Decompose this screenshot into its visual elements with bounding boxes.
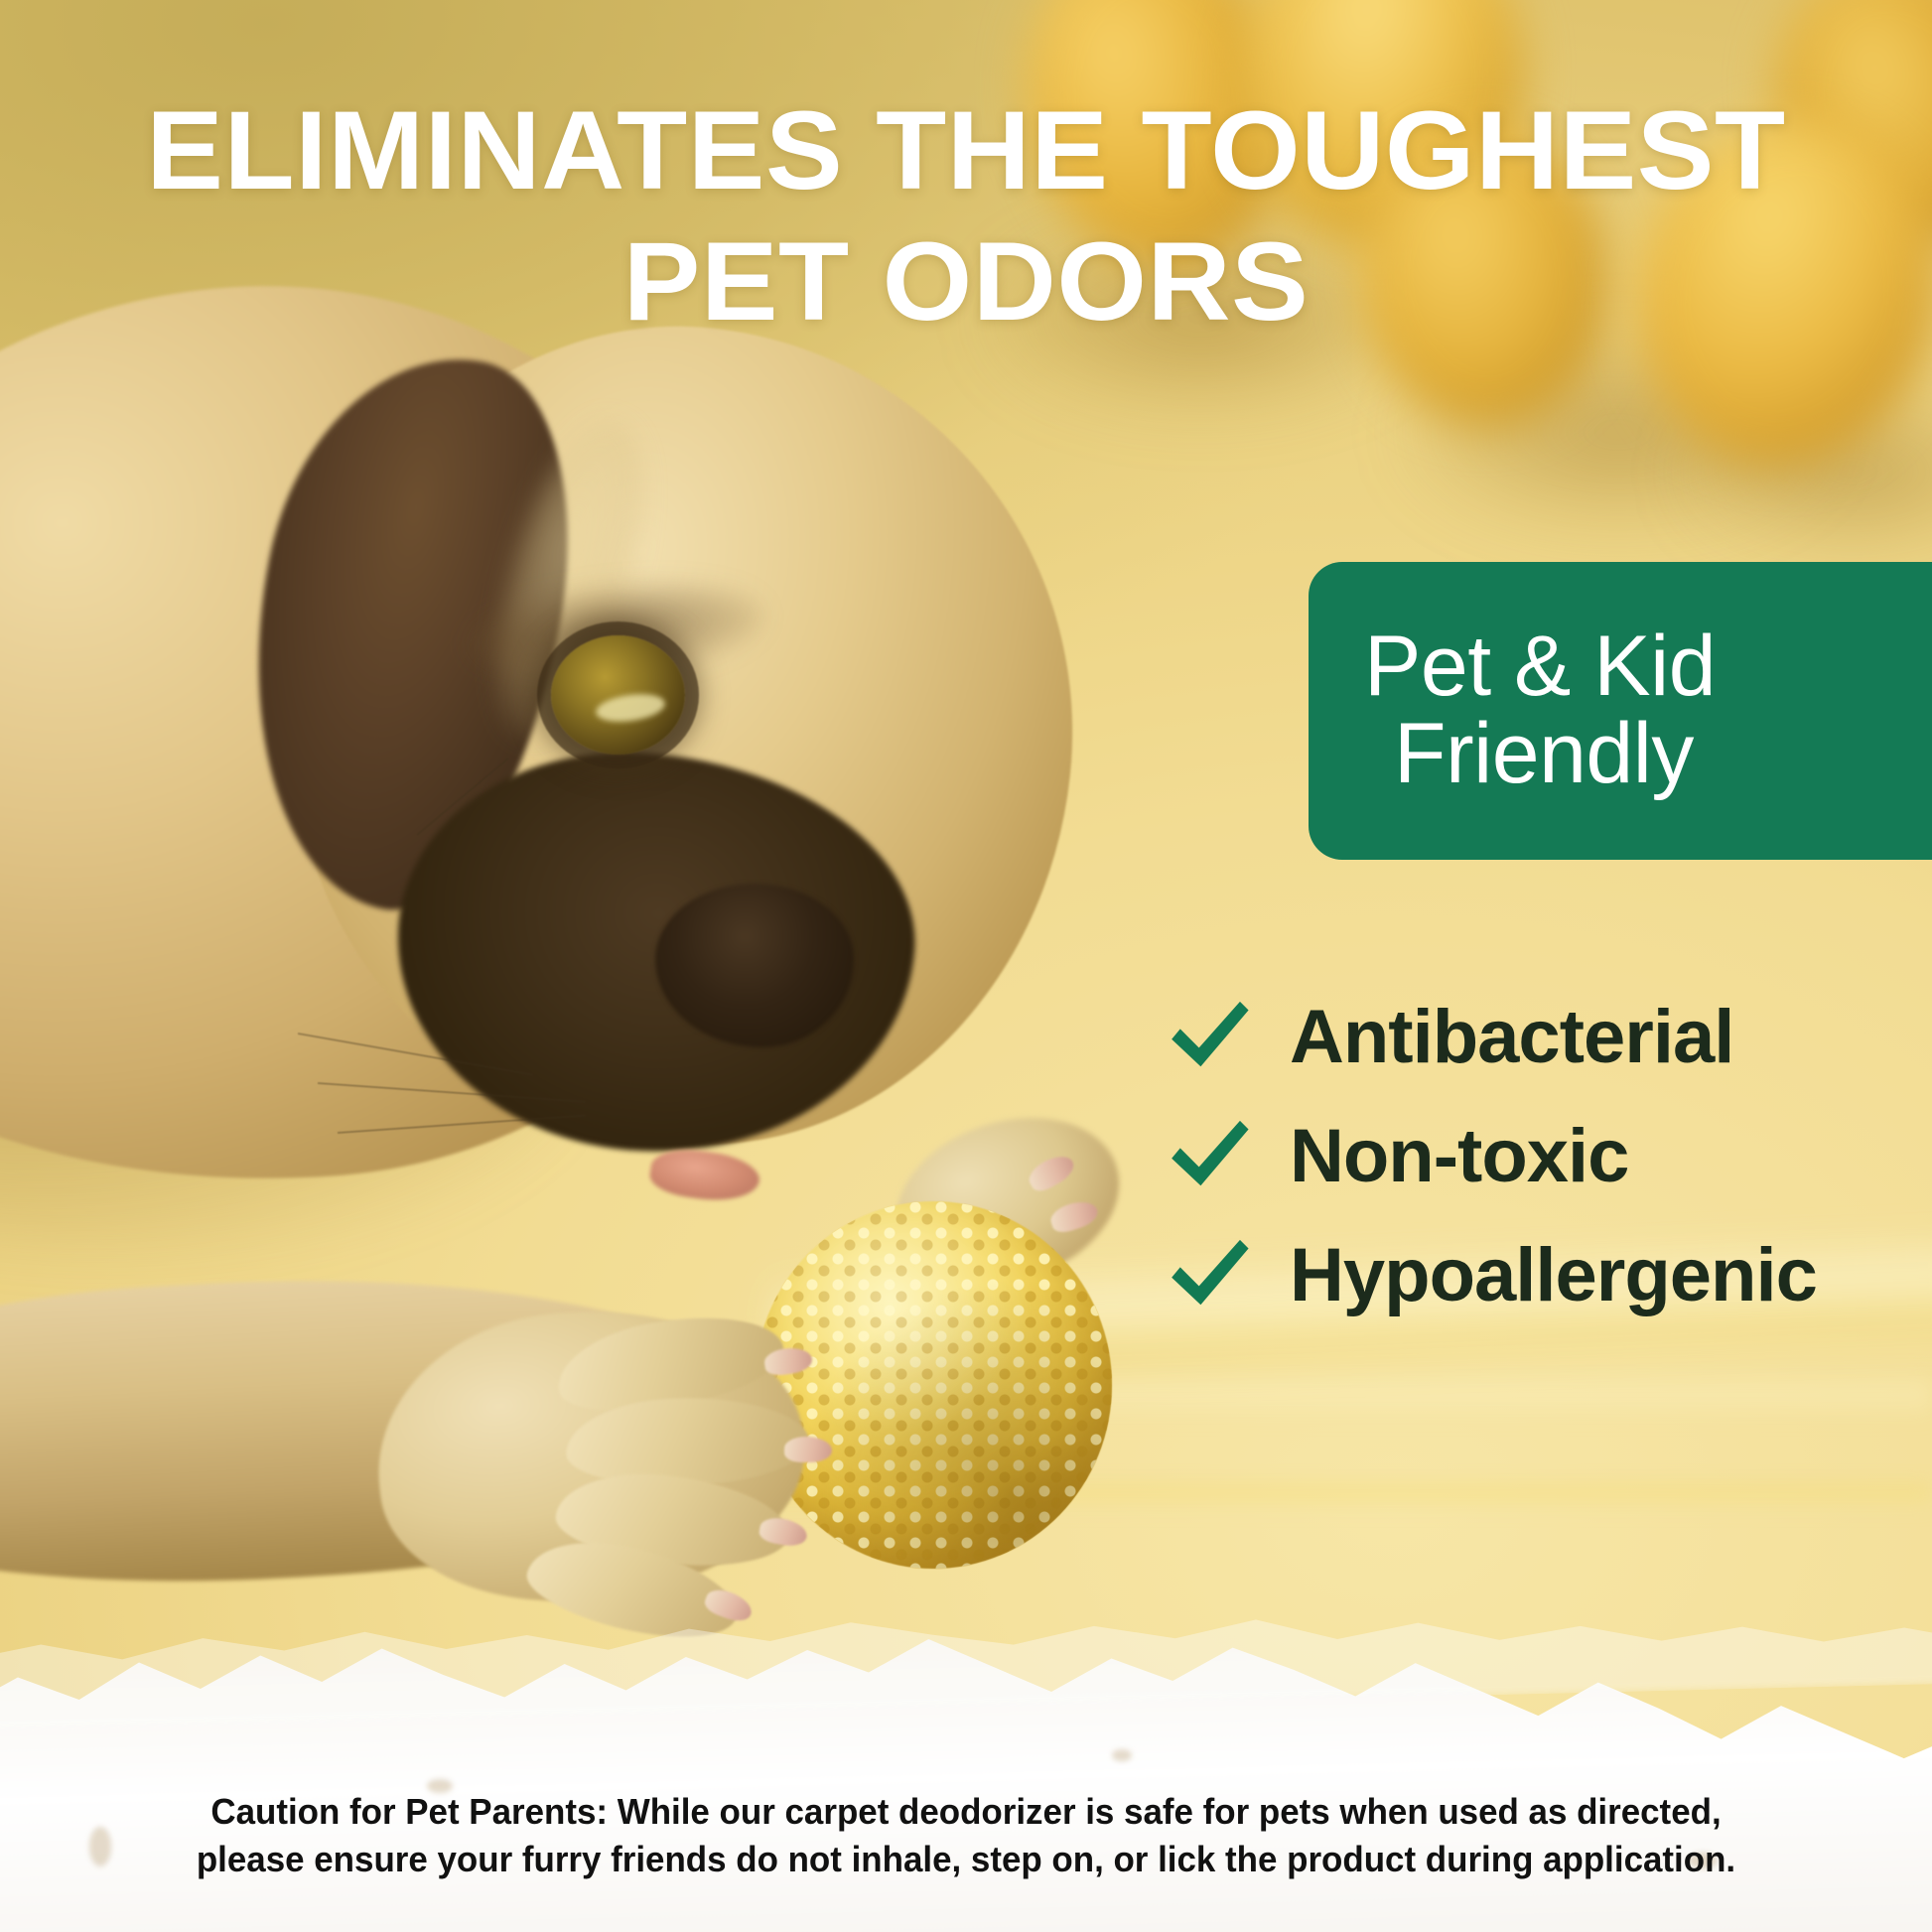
dog-eye <box>551 635 685 755</box>
check-icon <box>1167 995 1252 1080</box>
headline-line-2: PET ODORS <box>15 216 1917 347</box>
promo-banner: ELIMINATES THE TOUGHEST PET ODORS Pet & … <box>0 0 1932 1932</box>
list-item: Hypoallergenic <box>1167 1216 1932 1335</box>
pet-kid-friendly-badge: Pet & Kid Friendly <box>1309 562 1932 860</box>
feature-label: Antibacterial <box>1290 1000 1733 1075</box>
ball-shading <box>755 1201 1112 1569</box>
badge-line-1: Pet & Kid <box>1364 623 1924 711</box>
dog-nail <box>784 1437 832 1462</box>
caution-line-2: please ensure your furry friends do not … <box>73 1836 1859 1884</box>
check-icon <box>1167 1114 1252 1199</box>
headline-line-1: ELIMINATES THE TOUGHEST <box>146 88 1785 212</box>
feature-label: Hypoallergenic <box>1290 1238 1817 1313</box>
badge-line-2: Friendly <box>1364 711 1924 798</box>
caution-text: Caution for Pet Parents: While our carpe… <box>29 1788 1903 1884</box>
feature-list: Antibacterial Non-toxic Hypoallergenic <box>1167 978 1932 1335</box>
dog-tongue <box>647 1145 762 1207</box>
headline: ELIMINATES THE TOUGHEST PET ODORS <box>0 85 1932 347</box>
list-item: Non-toxic <box>1167 1097 1932 1216</box>
carpet-speck <box>1112 1749 1132 1761</box>
list-item: Antibacterial <box>1167 978 1932 1097</box>
check-icon <box>1167 1233 1252 1318</box>
feature-label: Non-toxic <box>1290 1119 1628 1194</box>
caution-line-1: Caution for Pet Parents: While our carpe… <box>73 1788 1859 1837</box>
